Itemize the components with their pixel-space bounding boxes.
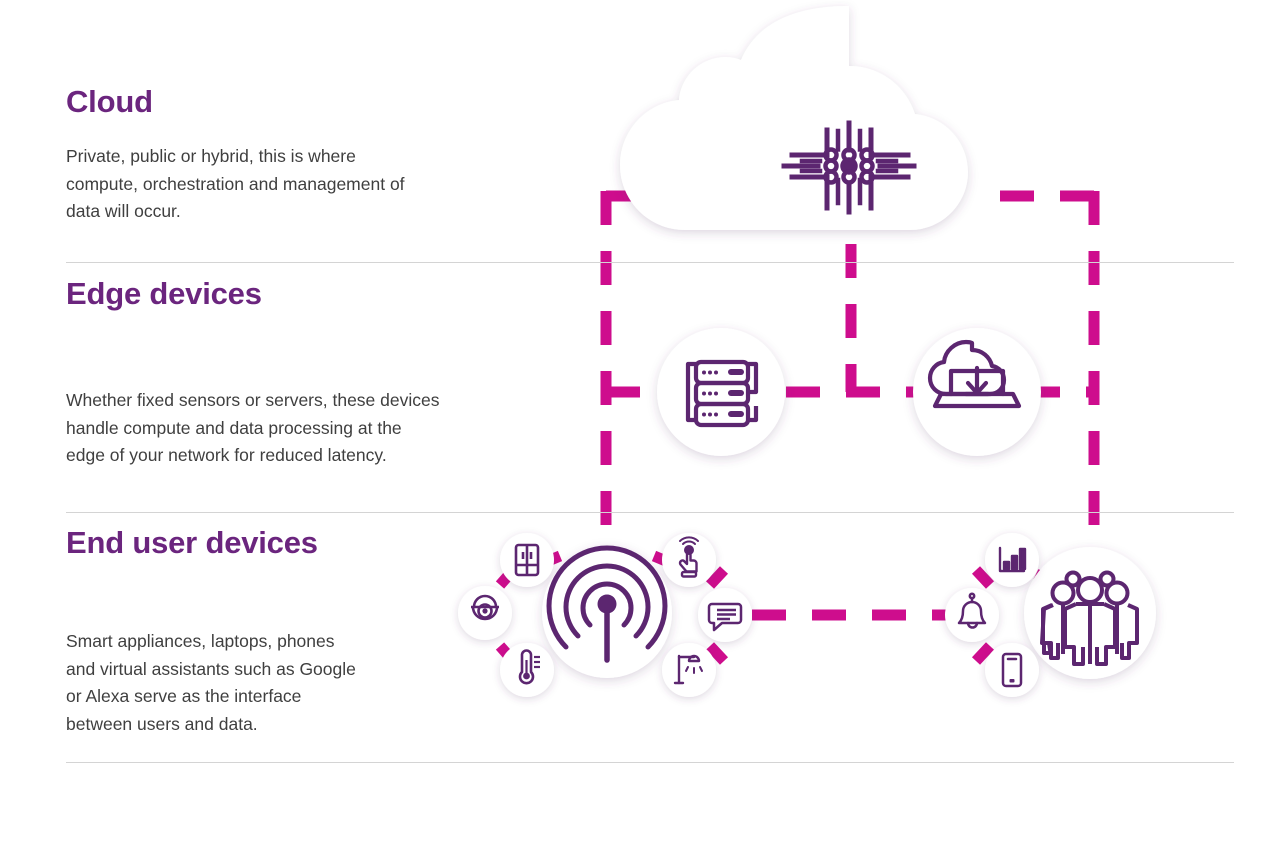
section-title-edge-devices: Edge devices	[66, 277, 536, 311]
node-edge-server[interactable]	[657, 328, 785, 456]
node-cloud-platform[interactable]	[620, 6, 968, 230]
infographic-canvas: Cloud Private, public or hybrid, this is…	[0, 0, 1280, 855]
node-edge-gateway[interactable]	[913, 328, 1041, 456]
divider-cloud-edge	[66, 262, 1234, 263]
node-iot-hub[interactable]	[542, 548, 672, 678]
divider-bottom	[66, 762, 1234, 763]
node-street-light[interactable]	[662, 643, 716, 697]
section-body-end-user-devices: Smart appliances, laptops, phones and vi…	[66, 628, 536, 739]
section-end-user-devices: End user devices Smart appliances, lapto…	[66, 526, 536, 739]
node-smartphone[interactable]	[985, 643, 1039, 697]
bubble-shape	[657, 328, 785, 456]
link-analytics-to-bell	[976, 570, 990, 585]
node-touch-control[interactable]	[662, 533, 716, 587]
node-user-group[interactable]	[1024, 547, 1156, 679]
section-edge-devices: Edge devices Whether fixed sensors or se…	[66, 277, 536, 470]
divider-edge-enduser	[66, 512, 1234, 513]
bubble-shape	[945, 588, 999, 642]
section-title-end-user-devices: End user devices	[66, 526, 536, 560]
bubble-shape	[662, 643, 716, 697]
cloud-shape	[620, 6, 968, 230]
node-notifications[interactable]	[945, 588, 999, 642]
node-messaging[interactable]	[698, 588, 752, 642]
section-cloud: Cloud Private, public or hybrid, this is…	[66, 85, 536, 226]
node-analytics[interactable]	[985, 533, 1039, 587]
section-body-edge-devices: Whether fixed sensors or servers, these …	[66, 387, 536, 470]
section-title-cloud: Cloud	[66, 85, 536, 119]
bubble-shape	[985, 643, 1039, 697]
section-body-cloud: Private, public or hybrid, this is where…	[66, 143, 536, 226]
